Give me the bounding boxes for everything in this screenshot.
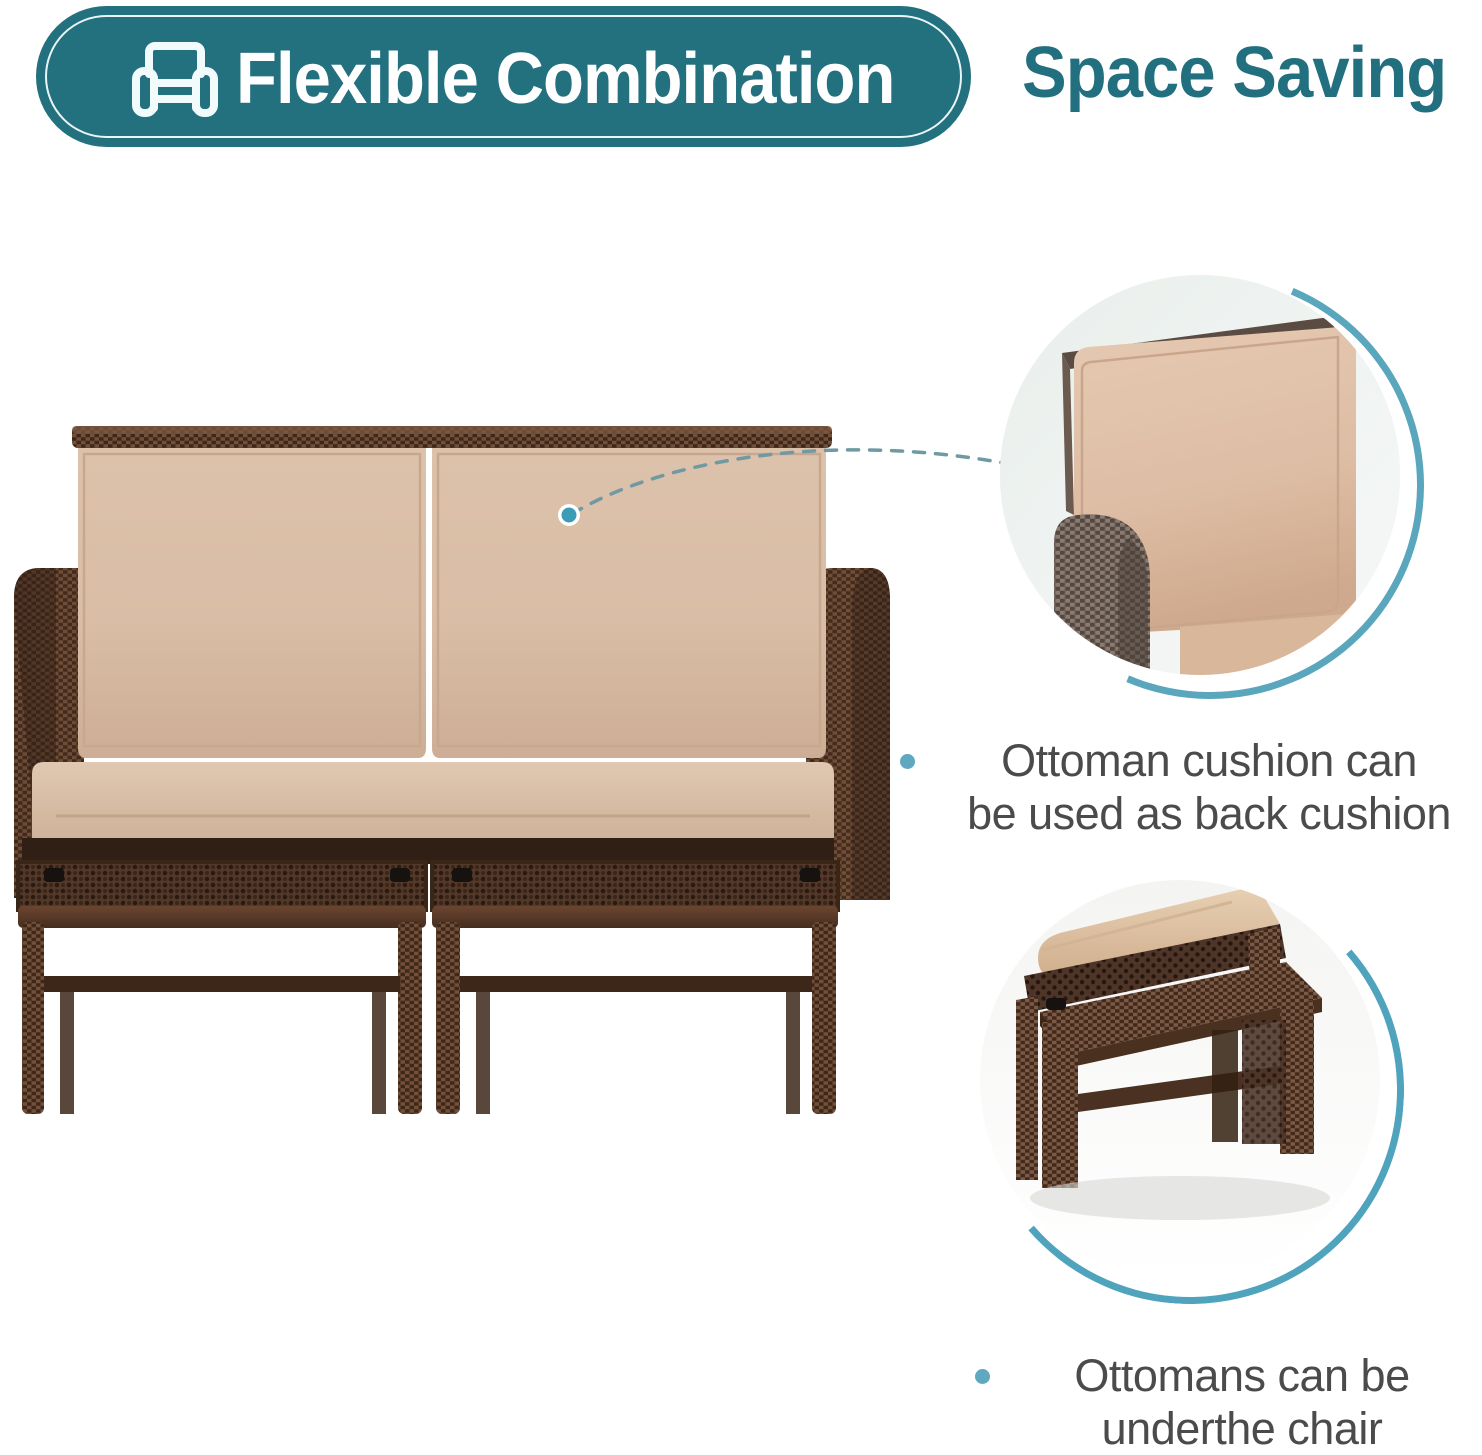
ottoman-right	[432, 862, 838, 1114]
badge-label: Flexible Combination	[236, 30, 894, 127]
bullet-line-1: Ottomans can be	[1032, 1350, 1452, 1403]
bullet-line-2: underthe chair	[1032, 1403, 1452, 1455]
connector-marker-dot	[562, 508, 577, 523]
space-saving-title: Space Saving	[1022, 24, 1446, 121]
bullet-item-ottoman-cushion: Ottoman cushion can be used as back cush…	[900, 735, 1482, 840]
header-banner: Flexible Combination Space Saving	[0, 0, 1482, 175]
bullet-item-ottomans-under-chair: Ottomans can be underthe chair	[975, 1350, 1482, 1455]
callout-back-cushion-closeup	[1000, 275, 1400, 675]
bullet-dot-icon	[975, 1369, 990, 1384]
bullet-line-1: Ottoman cushion can	[959, 735, 1459, 788]
back-cushion-left	[78, 448, 426, 758]
flexible-combination-badge: Flexible Combination	[36, 6, 971, 147]
bullet-text: Ottomans can be underthe chair	[1032, 1350, 1452, 1455]
armchair-icon	[132, 38, 218, 120]
bullet-dot-icon	[900, 754, 915, 769]
seat-cushion	[32, 762, 834, 848]
bullet-line-2: be used as back cushion	[959, 788, 1459, 841]
dashed-callout-connector	[520, 420, 1080, 560]
bullet-text: Ottoman cushion can be used as back cush…	[959, 735, 1459, 840]
callout-nested-ottomans-closeup	[980, 880, 1380, 1280]
ottoman-left	[18, 862, 426, 1114]
